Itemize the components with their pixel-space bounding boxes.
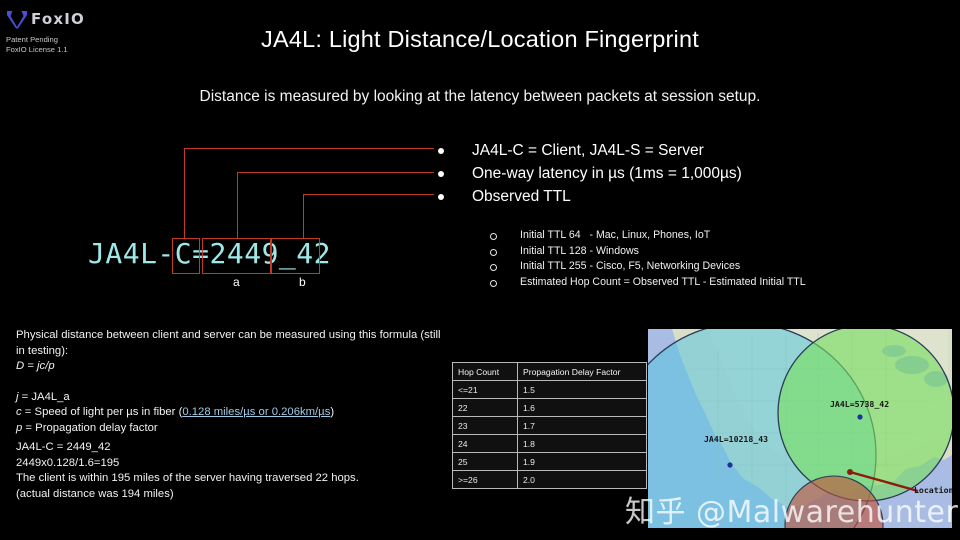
bullet-dot-icon — [438, 171, 444, 177]
definition-p: p = Propagation delay factor — [16, 421, 446, 437]
example-actual: (actual distance was 194 miles) — [16, 487, 446, 503]
formula-intro: Physical distance between client and ser… — [16, 328, 446, 359]
formula-description: Physical distance between client and ser… — [16, 328, 446, 437]
sub-bullet-text: Initial TTL 128 - Windows — [520, 245, 639, 257]
definition-j: j = JA4L_a — [16, 390, 446, 406]
annotation-box-field-a — [202, 238, 271, 274]
bullet-dot-icon — [438, 148, 444, 154]
table-header-row: Hop Count Propagation Delay Factor — [453, 363, 647, 381]
cell-delay-factor: 2.0 — [518, 471, 647, 489]
table-row: <=211.5 — [453, 381, 647, 399]
equation-body: = jc/p — [24, 360, 54, 372]
cell-delay-factor: 1.7 — [518, 417, 647, 435]
list-item: Estimated Hop Count = Observed TTL - Est… — [482, 275, 902, 291]
definition-j-text: = JA4L_a — [19, 391, 70, 403]
example-input: JA4L-C = 2449_42 — [16, 440, 446, 456]
column-header-hop-count: Hop Count — [453, 363, 518, 381]
example-conclusion: The client is within 195 miles of the se… — [16, 471, 446, 487]
cell-hop-count: <=21 — [453, 381, 518, 399]
cell-delay-factor: 1.6 — [518, 399, 647, 417]
propagation-delay-table: Hop Count Propagation Delay Factor <=211… — [452, 362, 647, 489]
list-item: JA4L-C = Client, JA4L-S = Server — [432, 139, 862, 162]
table-row: 251.9 — [453, 453, 647, 471]
field-b-label: b — [299, 275, 306, 289]
cell-hop-count: >=26 — [453, 471, 518, 489]
page-subtitle: Distance is measured by looking at the l… — [0, 88, 960, 106]
hollow-bullet-icon — [490, 249, 497, 256]
column-header-delay-factor: Propagation Delay Factor — [518, 363, 647, 381]
hollow-bullet-icon — [490, 233, 497, 240]
cell-hop-count: 24 — [453, 435, 518, 453]
table-row: 221.6 — [453, 399, 647, 417]
definition-p-text: = Propagation delay factor — [22, 422, 157, 434]
list-item: Observed TTL — [432, 185, 862, 208]
page-title: JA4L: Light Distance/Location Fingerprin… — [0, 26, 960, 53]
bullet-text: Observed TTL — [472, 188, 571, 205]
list-item: Initial TTL 64 - Mac, Linux, Phones, IoT — [482, 228, 902, 244]
equation-variable: D — [16, 360, 24, 372]
map-label-cyan-circle: JA4L=10218_43 — [704, 434, 768, 444]
formula-equation: D = jc/p — [16, 359, 446, 375]
table-row: 231.7 — [453, 417, 647, 435]
list-item: One-way latency in µs (1ms = 1,000µs) — [432, 162, 862, 185]
ttl-sub-bullet-list: Initial TTL 64 - Mac, Linux, Phones, IoT… — [482, 228, 902, 290]
list-item: Initial TTL 255 - Cisco, F5, Networking … — [482, 259, 902, 275]
cell-delay-factor: 1.8 — [518, 435, 647, 453]
definition-c-post: ) — [330, 406, 334, 418]
definition-c: c = Speed of light per µs in fiber (0.12… — [16, 405, 446, 421]
definition-c-pre: = Speed of light per µs in fiber ( — [22, 406, 183, 418]
brand-name: FoxIO — [31, 12, 85, 27]
sub-bullet-text: Initial TTL 255 - Cisco, F5, Networking … — [520, 260, 740, 272]
watermark-text: 知乎 @Malwarehunter — [625, 487, 960, 531]
bullet-dot-icon — [438, 194, 444, 200]
sub-bullet-text: Initial TTL 64 - Mac, Linux, Phones, IoT — [520, 229, 710, 241]
table-row: >=262.0 — [453, 471, 647, 489]
example-calculation: 2449x0.128/1.6=195 — [16, 456, 446, 472]
slide-canvas: FoxIO Patent Pending FoxIO License 1.1 J… — [0, 0, 960, 540]
hollow-bullet-icon — [490, 264, 497, 271]
worked-example: JA4L-C = 2449_42 2449x0.128/1.6=195 The … — [16, 440, 446, 502]
cell-delay-factor: 1.5 — [518, 381, 647, 399]
cell-hop-count: 23 — [453, 417, 518, 435]
field-a-label: a — [233, 275, 240, 289]
bullet-text: One-way latency in µs (1ms = 1,000µs) — [472, 165, 742, 182]
cell-delay-factor: 1.9 — [518, 453, 647, 471]
sub-bullet-text: Estimated Hop Count = Observed TTL - Est… — [520, 276, 806, 288]
speed-of-light-link[interactable]: 0.128 miles/µs or 0.206km/µs — [182, 406, 330, 418]
hollow-bullet-icon — [490, 280, 497, 287]
table-row: 241.8 — [453, 435, 647, 453]
map-label-green-circle: JA4L=5738_42 — [830, 399, 889, 409]
bullet-text: JA4L-C = Client, JA4L-S = Server — [472, 142, 704, 159]
annotation-box-field-b — [271, 238, 320, 274]
bullet-list: JA4L-C = Client, JA4L-S = Server One-way… — [432, 139, 862, 208]
cell-hop-count: 22 — [453, 399, 518, 417]
list-item: Initial TTL 128 - Windows — [482, 244, 902, 260]
annotation-box-field-c — [172, 238, 200, 274]
cell-hop-count: 25 — [453, 453, 518, 471]
